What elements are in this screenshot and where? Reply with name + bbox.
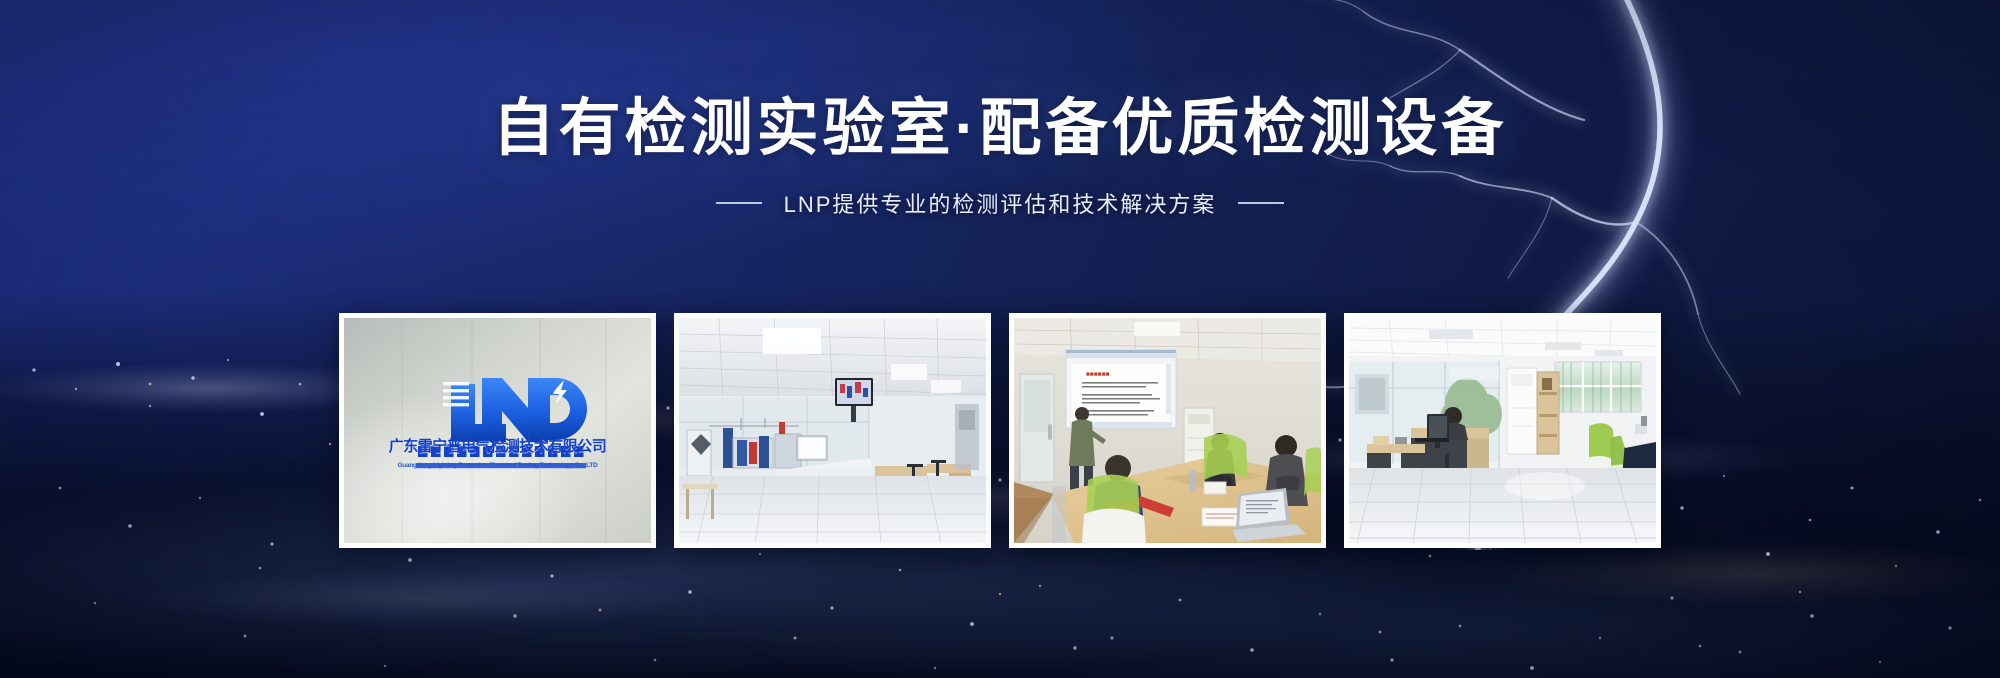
gallery-card-testing-laboratory[interactable] — [674, 313, 991, 548]
company-signage-photo: 广东雷宁普电气检测技术有限公司 Guangdong Lighting Prote… — [344, 318, 651, 543]
page-subtitle: LNP提供专业的检测评估和技术解决方案 — [784, 187, 1217, 219]
svg-text:■■■■■■: ■■■■■■ — [1086, 371, 1110, 378]
page-title: 自有检测实验室·配备优质检测设备 — [0, 96, 2000, 163]
gallery-card-company-signage[interactable]: 广东雷宁普电气检测技术有限公司 Guangdong Lighting Prote… — [339, 313, 656, 548]
gallery-card-office-area[interactable] — [1344, 313, 1661, 548]
headline-block: 自有检测实验室·配备优质检测设备 LNP提供专业的检测评估和技术解决方案 — [0, 96, 2000, 219]
photo-gallery: 广东雷宁普电气检测技术有限公司 Guangdong Lighting Prote… — [0, 313, 2000, 548]
subtitle-row: LNP提供专业的检测评估和技术解决方案 — [0, 187, 2000, 219]
meeting-room-photo: ■■■■■■ — [1014, 318, 1321, 543]
hero-banner: 自有检测实验室·配备优质检测设备 LNP提供专业的检测评估和技术解决方案 — [0, 0, 2000, 678]
signage-english-text: Guangdong Lighting Protection Electrical… — [348, 462, 647, 469]
rule-left-icon — [716, 202, 762, 204]
gallery-card-meeting-room[interactable]: ■■■■■■ — [1009, 313, 1326, 548]
signage-chinese-text: 广东雷宁普电气检测技术有限公司 — [344, 435, 651, 456]
office-area-photo — [1349, 318, 1656, 543]
testing-laboratory-photo — [679, 318, 986, 543]
rule-right-icon — [1238, 202, 1284, 204]
